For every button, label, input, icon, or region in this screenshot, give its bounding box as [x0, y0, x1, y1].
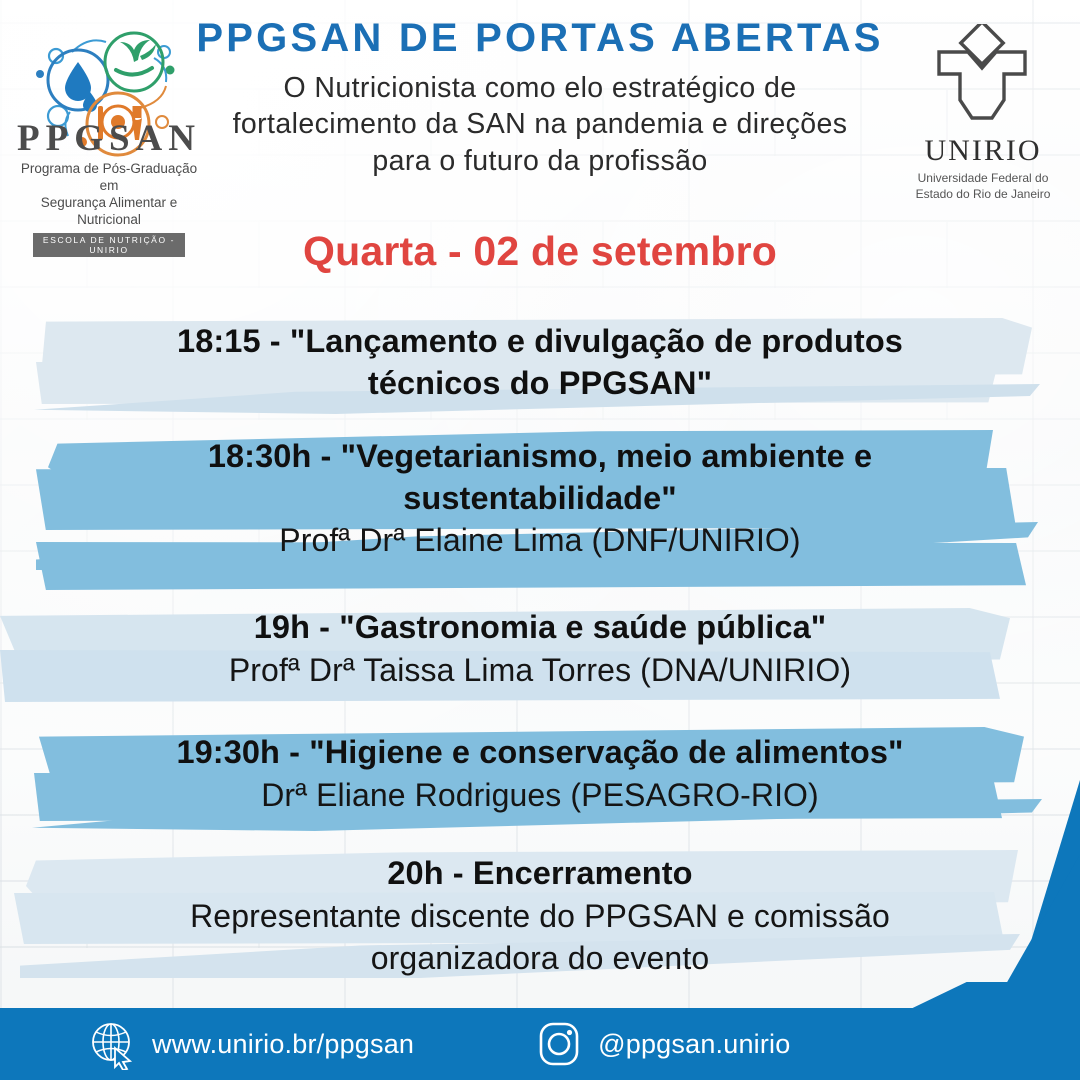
schedule-item-1815: 18:15 - "Lançamento e divulgação de prod…: [0, 300, 1080, 422]
schedule-speaker: Profª Drª Elaine Lima (DNF/UNIRIO): [0, 520, 1080, 562]
page-title: PPGSAN DE PORTAS ABERTAS: [196, 16, 884, 60]
schedule-title-line: 20h - Encerramento: [0, 852, 1080, 895]
instagram-link[interactable]: @ppgsan.unirio: [536, 1019, 790, 1069]
schedule-title-line: técnicos do PPGSAN": [0, 362, 1080, 404]
ppgsan-logo: PPGSAN Programa de Pós-Graduação em Segu…: [14, 12, 204, 202]
event-poster: PPGSAN Programa de Pós-Graduação em Segu…: [0, 0, 1080, 1080]
schedule-title-line: 18:30h - "Vegetarianismo, meio ambiente …: [0, 435, 1080, 477]
header-text-group: PPGSAN DE PORTAS ABERTAS O Nutricionista…: [196, 16, 884, 179]
unirio-logo: UNIRIO Universidade Federal do Estado do…: [908, 24, 1058, 192]
schedule-speaker: Drª Eliane Rodrigues (PESAGRO-RIO): [0, 774, 1080, 816]
schedule-title-line: 19h - "Gastronomia e saúde pública": [0, 606, 1080, 649]
subtitle-line: para o futuro da profissão: [196, 143, 884, 179]
schedule-title-line: 19:30h - "Higiene e conservação de alime…: [0, 731, 1080, 774]
ppgsan-logo-acronym: PPGSAN: [14, 120, 204, 157]
subtitle-line: O Nutricionista como elo estratégico de: [196, 70, 884, 106]
unirio-logo-line1: Universidade Federal do: [908, 170, 1058, 186]
schedule-item-20: 20h - Encerramento Representante discent…: [0, 842, 1080, 1002]
schedule-speaker: Profª Drª Taissa Lima Torres (DNA/UNIRIO…: [0, 649, 1080, 691]
schedule-item-1830: 18:30h - "Vegetarianismo, meio ambiente …: [0, 422, 1080, 592]
schedule-item-text: 18:15 - "Lançamento e divulgação de prod…: [0, 300, 1080, 405]
schedule-speaker: organizadora do evento: [0, 937, 1080, 979]
footer-content: www.unirio.br/ppgsan @ppgsan.unirio: [0, 1008, 1080, 1080]
unirio-logo-graphic: [908, 24, 1058, 134]
ppgsan-logo-line2: Segurança Alimentar e Nutricional: [14, 195, 204, 229]
website-link[interactable]: www.unirio.br/ppgsan: [90, 1018, 414, 1070]
subtitle-line: fortalecimento da SAN na pandemia e dire…: [196, 106, 884, 142]
schedule-item-text: 18:30h - "Vegetarianismo, meio ambiente …: [0, 422, 1080, 561]
unirio-logo-acronym: UNIRIO: [908, 136, 1058, 166]
schedule-title-line: 18:15 - "Lançamento e divulgação de prod…: [0, 320, 1080, 362]
schedule-item-1930: 19:30h - "Higiene e conservação de alime…: [0, 717, 1080, 842]
globe-cursor-icon: [90, 1018, 136, 1070]
ppgsan-logo-line1: Programa de Pós-Graduação em: [14, 161, 204, 195]
schedule-title-line: sustentabilidade": [0, 477, 1080, 519]
website-label: www.unirio.br/ppgsan: [152, 1029, 414, 1060]
unirio-logo-line2: Estado do Rio de Janeiro: [908, 186, 1058, 202]
instagram-label: @ppgsan.unirio: [598, 1029, 790, 1060]
schedule-list: 18:15 - "Lançamento e divulgação de prod…: [0, 300, 1080, 1002]
instagram-icon: [536, 1019, 582, 1069]
schedule-item-19: 19h - "Gastronomia e saúde pública" Prof…: [0, 592, 1080, 717]
page-subtitle: O Nutricionista como elo estratégico de …: [196, 70, 884, 179]
schedule-item-text: 20h - Encerramento Representante discent…: [0, 842, 1080, 979]
schedule-item-text: 19h - "Gastronomia e saúde pública" Prof…: [0, 592, 1080, 691]
schedule-speaker: Representante discente do PPGSAN e comis…: [0, 895, 1080, 937]
date-heading: Quarta - 02 de setembro: [0, 228, 1080, 275]
schedule-item-text: 19:30h - "Higiene e conservação de alime…: [0, 717, 1080, 816]
